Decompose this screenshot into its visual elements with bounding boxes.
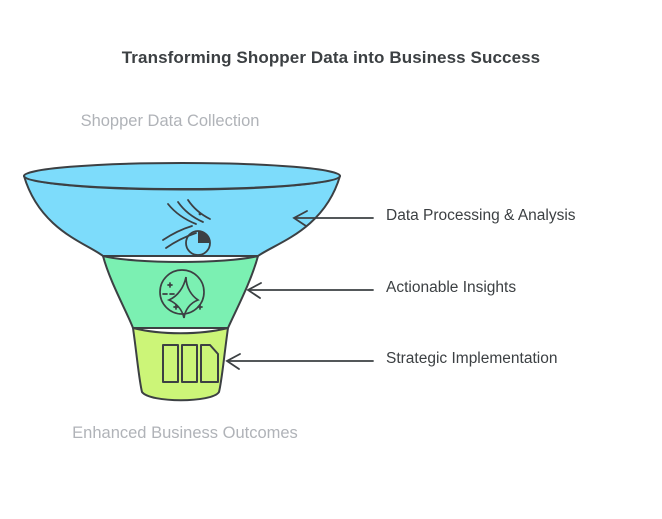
connector-arrow-yellow [227,354,373,369]
funnel-diagram-slide: Transforming Shopper Data into Business … [0,0,662,519]
funnel-stage-yellow-body [133,328,228,400]
funnel-bottom-label: Enhanced Business Outcomes [55,422,315,444]
funnel-stage-yellow[interactable] [133,328,228,400]
stage-label-actionable-insights: Actionable Insights [386,279,516,297]
stage-label-data-processing: Data Processing & Analysis [386,207,576,225]
connector-arrow-green [248,283,373,298]
funnel-top-rim [24,163,340,189]
stage-label-strategic-implementation: Strategic Implementation [386,350,557,368]
funnel-stage-green[interactable] [103,256,258,328]
funnel-stage-blue[interactable] [24,163,340,256]
